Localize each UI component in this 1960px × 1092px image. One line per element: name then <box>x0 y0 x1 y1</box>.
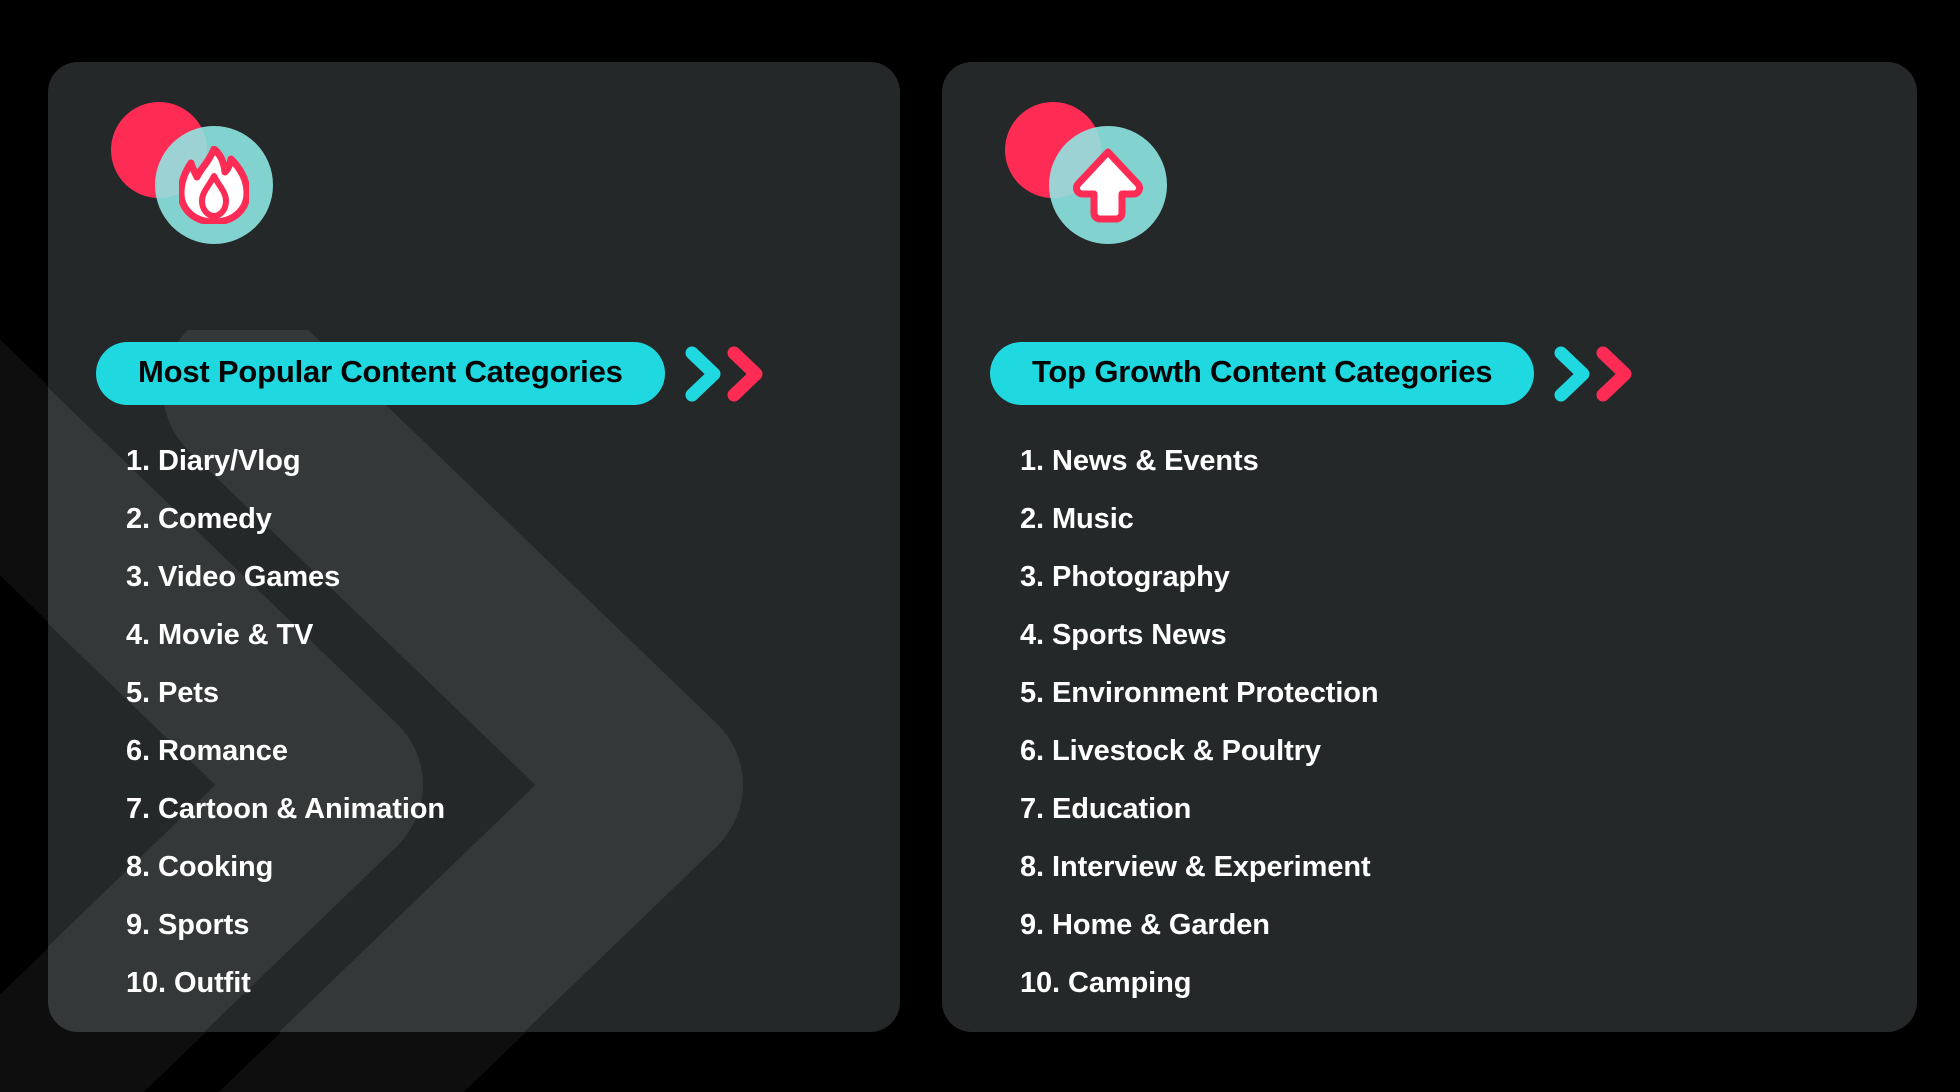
card-title: Top Growth Content Categories <box>1032 356 1492 387</box>
card-icon-badge-flame <box>111 102 281 247</box>
list-item-number: 5. <box>1020 677 1044 709</box>
list-item: 7.Cartoon & Animation <box>126 795 445 824</box>
list-item-label: Pets <box>158 677 219 709</box>
list-item-label: News & Events <box>1052 445 1259 477</box>
list-item-number: 10. <box>126 967 166 999</box>
list-item-label: Interview & Experiment <box>1052 851 1371 883</box>
chevron-pair <box>683 345 765 403</box>
chevron-right-pink-icon <box>1594 345 1634 403</box>
list-item-number: 9. <box>1020 909 1044 941</box>
list-item-number: 1. <box>126 445 150 477</box>
list-item-label: Sports <box>158 909 249 941</box>
list-item-label: Movie & TV <box>158 619 313 651</box>
list-item: 3.Photography <box>1020 563 1379 592</box>
list-item-number: 10. <box>1020 967 1060 999</box>
list-item-label: Comedy <box>158 503 272 535</box>
list-item: 5.Environment Protection <box>1020 679 1379 708</box>
list-item-label: Video Games <box>158 561 340 593</box>
list-item-label: Music <box>1052 503 1134 535</box>
list-item-number: 9. <box>126 909 150 941</box>
list-item: 2.Comedy <box>126 505 445 534</box>
list-item-number: 6. <box>1020 735 1044 767</box>
list-item-label: Livestock & Poultry <box>1052 735 1321 767</box>
card-title-row: Top Growth Content Categories <box>990 342 1634 405</box>
list-item: 6.Livestock & Poultry <box>1020 737 1379 766</box>
list-item-label: Education <box>1052 793 1191 825</box>
list-item: 5.Pets <box>126 679 445 708</box>
list-item-number: 7. <box>126 793 150 825</box>
list-item: 8.Cooking <box>126 853 445 882</box>
card-title: Most Popular Content Categories <box>138 356 623 387</box>
flame-icon <box>155 126 273 244</box>
list-item: 4.Sports News <box>1020 621 1379 650</box>
title-pill-most-popular[interactable]: Most Popular Content Categories <box>96 342 665 405</box>
list-item-label: Camping <box>1068 967 1191 999</box>
card-top-growth: Top Growth Content Categories 1.News & E… <box>942 62 1917 1032</box>
list-item-number: 4. <box>1020 619 1044 651</box>
list-item: 1.News & Events <box>1020 447 1379 476</box>
list-item: 4.Movie & TV <box>126 621 445 650</box>
list-item: 7.Education <box>1020 795 1379 824</box>
list-item-label: Photography <box>1052 561 1230 593</box>
chevron-right-pink-icon <box>725 345 765 403</box>
list-item: 9.Sports <box>126 911 445 940</box>
category-list-top-growth: 1.News & Events 2.Music 3.Photography 4.… <box>1020 447 1379 998</box>
list-item-number: 3. <box>126 561 150 593</box>
card-icon-badge-arrow-up <box>1005 102 1175 247</box>
card-most-popular: Most Popular Content Categories 1.Diary/… <box>48 62 900 1032</box>
list-item-number: 1. <box>1020 445 1044 477</box>
list-item-number: 2. <box>1020 503 1044 535</box>
list-item: 2.Music <box>1020 505 1379 534</box>
title-pill-top-growth[interactable]: Top Growth Content Categories <box>990 342 1534 405</box>
chevron-pair <box>1552 345 1634 403</box>
category-list-most-popular: 1.Diary/Vlog 2.Comedy 3.Video Games 4.Mo… <box>126 447 445 998</box>
list-item-label: Cooking <box>158 851 273 883</box>
list-item: 6.Romance <box>126 737 445 766</box>
arrow-up-icon <box>1049 126 1167 244</box>
list-item-number: 2. <box>126 503 150 535</box>
list-item: 10.Outfit <box>126 969 445 998</box>
list-item-number: 5. <box>126 677 150 709</box>
list-item: 1.Diary/Vlog <box>126 447 445 476</box>
list-item-number: 6. <box>126 735 150 767</box>
list-item-label: Diary/Vlog <box>158 445 300 477</box>
infographic-stage: Most Popular Content Categories 1.Diary/… <box>0 0 1960 1092</box>
list-item-label: Sports News <box>1052 619 1227 651</box>
list-item-number: 7. <box>1020 793 1044 825</box>
list-item-label: Cartoon & Animation <box>158 793 445 825</box>
list-item: 8.Interview & Experiment <box>1020 853 1379 882</box>
card-title-row: Most Popular Content Categories <box>96 342 765 405</box>
chevron-right-teal-icon <box>1552 345 1592 403</box>
chevron-right-teal-icon <box>683 345 723 403</box>
list-item-number: 8. <box>1020 851 1044 883</box>
list-item-label: Outfit <box>174 967 251 999</box>
list-item-number: 8. <box>126 851 150 883</box>
list-item-label: Home & Garden <box>1052 909 1270 941</box>
list-item: 3.Video Games <box>126 563 445 592</box>
list-item-number: 3. <box>1020 561 1044 593</box>
list-item: 10.Camping <box>1020 969 1379 998</box>
list-item: 9.Home & Garden <box>1020 911 1379 940</box>
list-item-label: Environment Protection <box>1052 677 1379 709</box>
list-item-number: 4. <box>126 619 150 651</box>
list-item-label: Romance <box>158 735 288 767</box>
